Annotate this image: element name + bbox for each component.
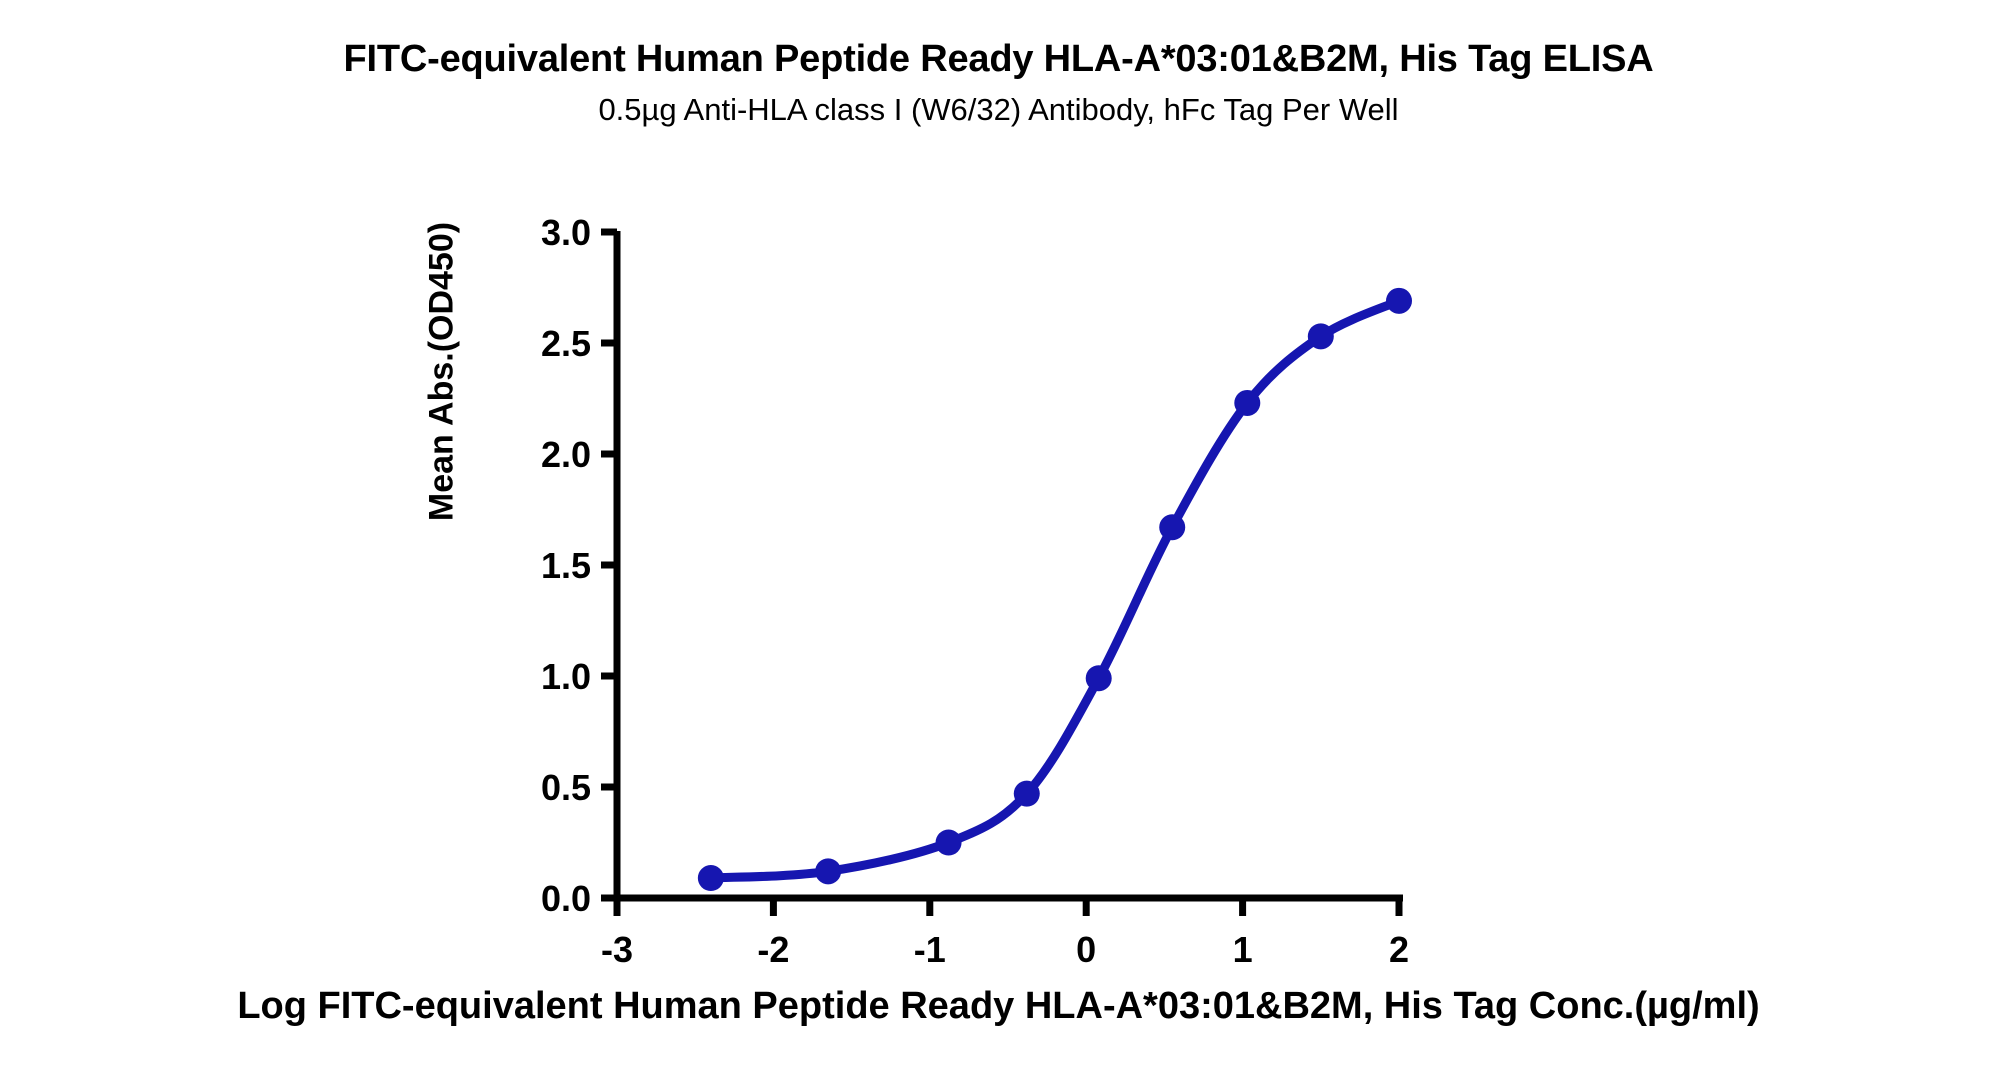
x-tick-label: 2: [1389, 929, 1409, 970]
y-tick-label: 0.0: [541, 878, 591, 919]
data-point-marker: [1159, 514, 1185, 540]
x-tick-label: 0: [1076, 929, 1096, 970]
data-point-marker: [698, 865, 724, 891]
data-point-marker: [1234, 390, 1260, 416]
x-tick-label: -1: [914, 929, 946, 970]
data-point-marker: [936, 830, 962, 856]
x-axis-title: Log FITC-equivalent Human Peptide Ready …: [0, 985, 1997, 1028]
data-point-marker: [1308, 323, 1334, 349]
data-point-marker: [815, 858, 841, 884]
x-tick-label: -3: [601, 929, 633, 970]
y-tick-label: 2.5: [541, 323, 591, 364]
x-tick-label: -2: [757, 929, 789, 970]
y-tick-label: 1.0: [541, 656, 591, 697]
elisa-chart-figure: FITC-equivalent Human Peptide Ready HLA-…: [0, 0, 1997, 1087]
data-point-marker: [1014, 781, 1040, 807]
x-tick-label: 1: [1233, 929, 1253, 970]
plot-area: 0.00.51.01.52.02.53.0-3-2-1012: [0, 0, 1997, 1087]
y-tick-label: 1.5: [541, 545, 591, 586]
y-tick-label: 3.0: [541, 212, 591, 253]
y-tick-label: 0.5: [541, 767, 591, 808]
data-point-marker: [1386, 288, 1412, 314]
series-line-0: [711, 301, 1399, 878]
data-point-marker: [1086, 665, 1112, 691]
y-tick-label: 2.0: [541, 434, 591, 475]
